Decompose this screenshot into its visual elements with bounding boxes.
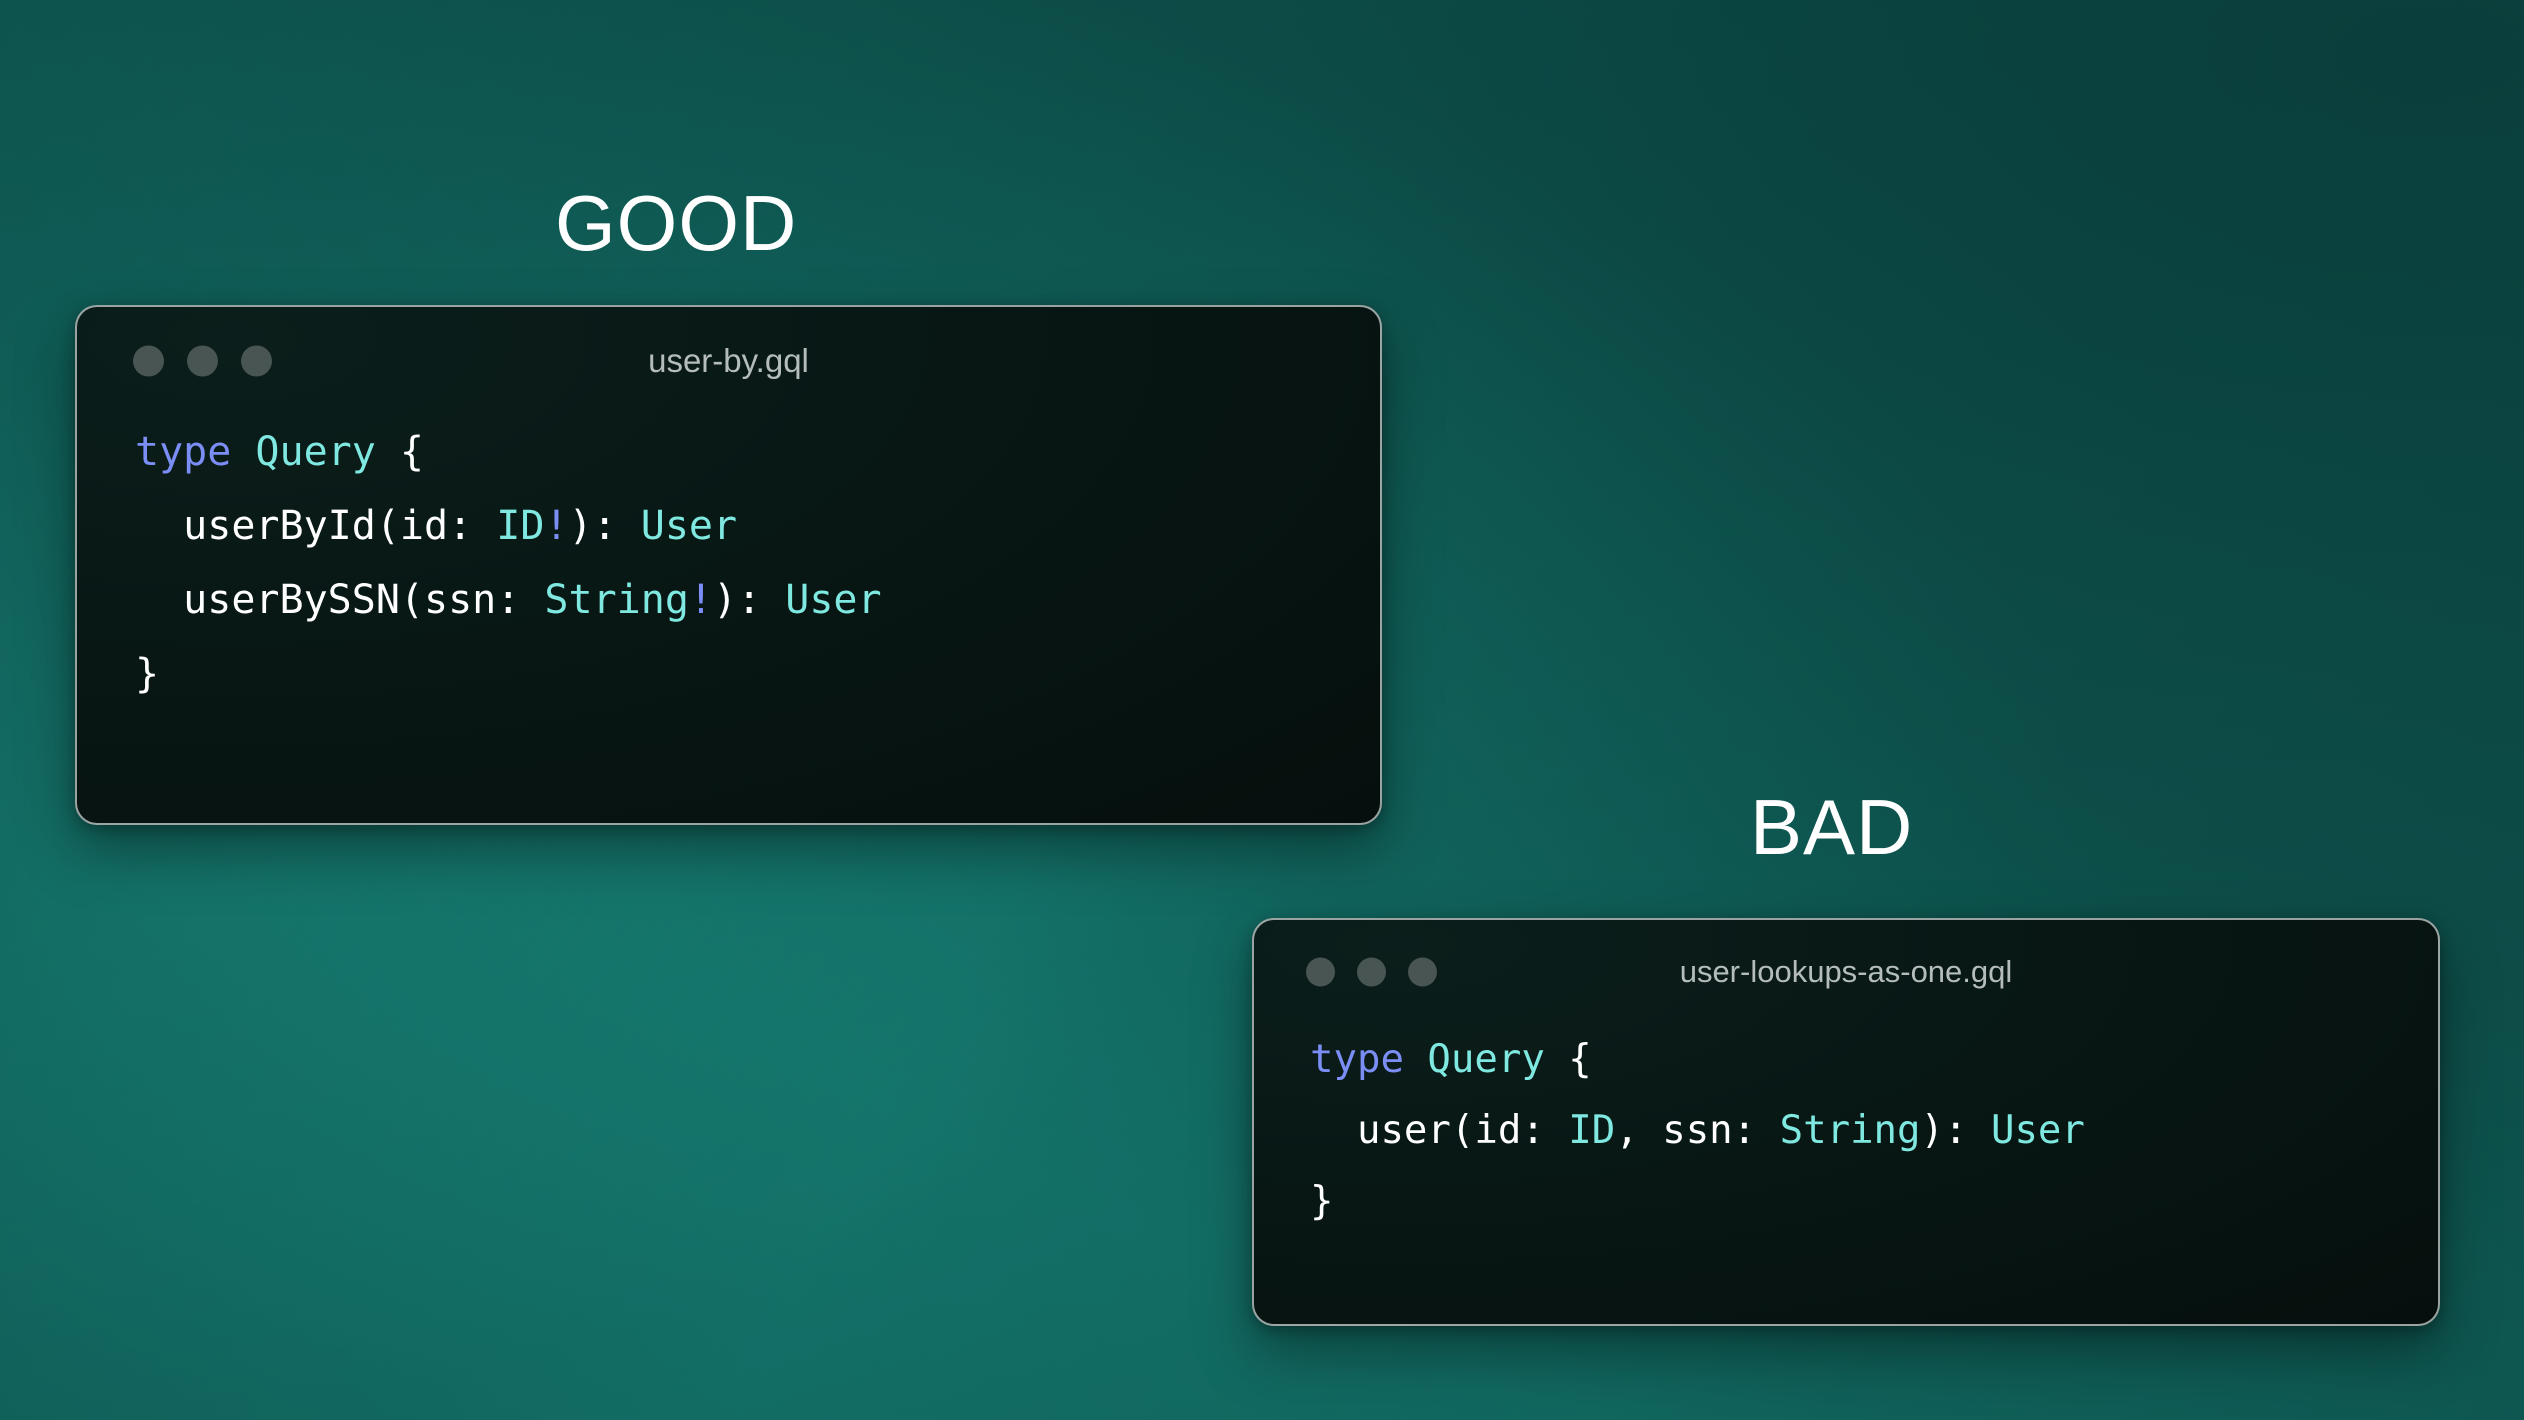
- code-line: type Query {: [1310, 1024, 2438, 1095]
- code-token: ):: [569, 503, 641, 549]
- code-line: userById(id: ID!): User: [135, 489, 1380, 563]
- code-token: User: [641, 503, 737, 549]
- code-token: }: [1310, 1179, 1333, 1224]
- code-token: String: [544, 577, 689, 623]
- code-token: type: [135, 429, 231, 475]
- window-titlebar: user-by.gql: [77, 307, 1380, 415]
- window-filename: user-lookups-as-one.gql: [1254, 954, 2438, 990]
- code-token: }: [135, 651, 159, 697]
- code-token: [231, 429, 255, 475]
- window-titlebar: user-lookups-as-one.gql: [1254, 920, 2438, 1024]
- code-token: !: [544, 503, 568, 549]
- bad-example-label: BAD: [1750, 782, 1913, 873]
- code-token: Query: [255, 429, 375, 475]
- code-token: ID: [496, 503, 544, 549]
- code-token: ):: [1921, 1108, 1991, 1153]
- code-token: {: [376, 429, 424, 475]
- code-token: user(id:: [1310, 1108, 1568, 1153]
- code-line: userBySSN(ssn: String!): User: [135, 563, 1380, 637]
- good-example-label: GOOD: [555, 178, 797, 269]
- code-token: , ssn:: [1615, 1108, 1779, 1153]
- code-token: Query: [1427, 1037, 1544, 1082]
- code-token: userBySSN(ssn:: [135, 577, 544, 623]
- window-filename: user-by.gql: [77, 342, 1380, 380]
- code-line: type Query {: [135, 415, 1380, 489]
- code-line: user(id: ID, ssn: String): User: [1310, 1095, 2438, 1166]
- code-token: !: [689, 577, 713, 623]
- code-token: type: [1310, 1037, 1404, 1082]
- code-token: [1404, 1037, 1427, 1082]
- code-window-good: user-by.gql type Query { userById(id: ID…: [75, 305, 1382, 825]
- code-token: User: [785, 577, 881, 623]
- code-token: {: [1545, 1037, 1592, 1082]
- code-block-good: type Query { userById(id: ID!): User use…: [77, 415, 1380, 711]
- code-line: }: [135, 637, 1380, 711]
- code-window-bad: user-lookups-as-one.gql type Query { use…: [1252, 918, 2440, 1326]
- code-token: userById(id:: [135, 503, 496, 549]
- code-token: User: [1991, 1108, 2085, 1153]
- code-token: ID: [1568, 1108, 1615, 1153]
- code-block-bad: type Query { user(id: ID, ssn: String): …: [1254, 1024, 2438, 1237]
- code-token: ):: [713, 577, 785, 623]
- code-line: }: [1310, 1166, 2438, 1237]
- code-token: String: [1780, 1108, 1921, 1153]
